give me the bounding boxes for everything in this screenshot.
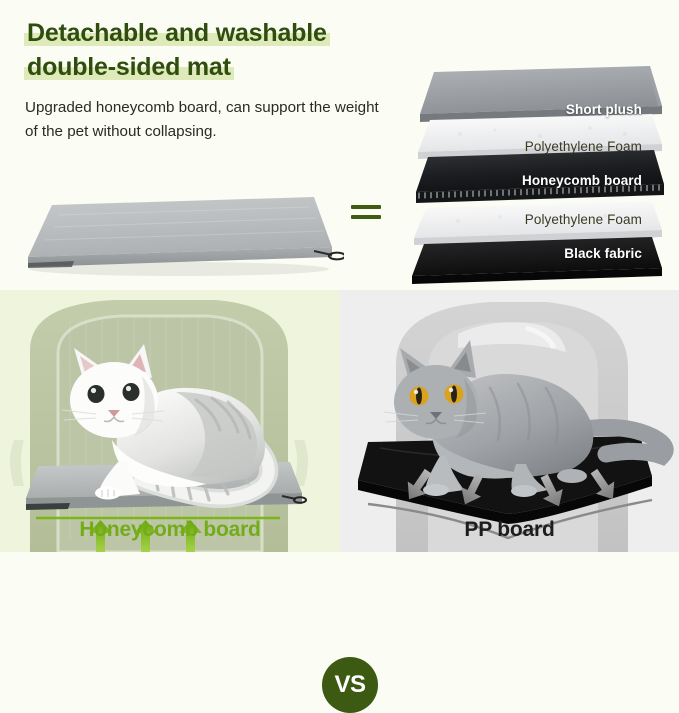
- comparison-section: Honeycomb board: [0, 290, 679, 552]
- infographic-page: Detachable and washable double-sided mat…: [0, 0, 679, 552]
- layer-label-black-fabric: Black fabric: [564, 246, 642, 261]
- headline-line-2: double-sided mat: [24, 50, 234, 84]
- pp-board-scene-illustration: [340, 290, 679, 552]
- mat-illustration: [14, 185, 344, 280]
- vs-label: VS: [334, 673, 365, 697]
- layer-label-short-plush: Short plush: [566, 102, 642, 117]
- layer-label-honeycomb-board: Honeycomb board: [522, 173, 642, 188]
- equals-icon: [351, 201, 383, 225]
- comparison-panel-right: PP board: [340, 290, 679, 552]
- headline-line-1: Detachable and washable: [24, 16, 330, 50]
- layer-label-foam-lower: Polyethylene Foam: [525, 212, 642, 227]
- comparison-panel-left: Honeycomb board: [0, 290, 340, 552]
- layer-label-foam-upper: Polyethylene Foam: [525, 139, 642, 154]
- headline-line-2-text: double-sided mat: [27, 53, 231, 81]
- caption-pp-board: PP board: [340, 518, 679, 542]
- top-section: Detachable and washable double-sided mat…: [0, 0, 679, 290]
- product-mat-image: [14, 185, 344, 280]
- vs-badge: VS: [322, 657, 378, 713]
- headline: Detachable and washable double-sided mat: [24, 16, 404, 84]
- caption-honeycomb-board: Honeycomb board: [0, 518, 340, 542]
- subtitle: Upgraded honeycomb board, can support th…: [25, 96, 385, 144]
- headline-line-1-text: Detachable and washable: [27, 19, 327, 47]
- honeycomb-scene-illustration: [0, 290, 340, 552]
- layer-stack-diagram: Short plush Polyethylene Foam Honeycomb …: [400, 62, 668, 284]
